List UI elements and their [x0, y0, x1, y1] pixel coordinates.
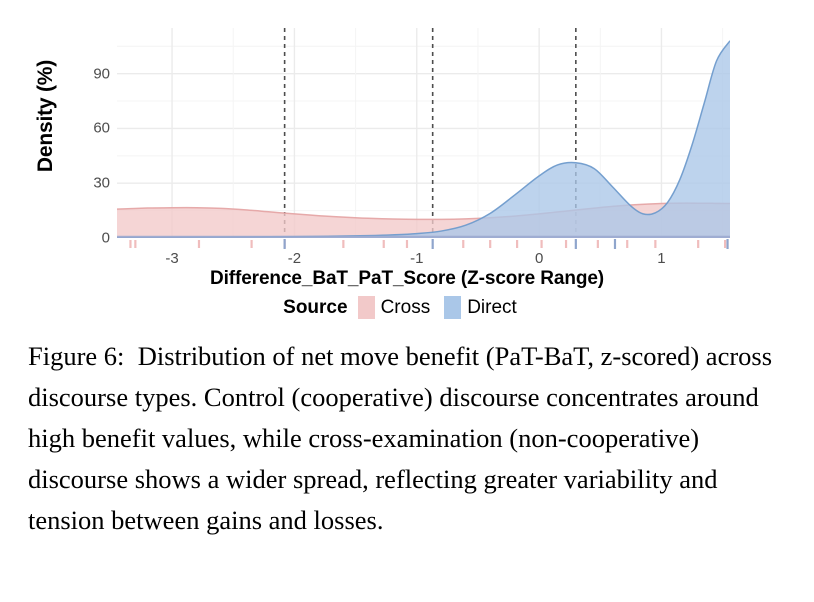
- x-tick-label: -2: [288, 250, 301, 267]
- y-tick-label: 0: [102, 230, 110, 247]
- x-tick-label: 1: [657, 250, 665, 267]
- chart-legend: Source Cross Direct: [0, 296, 814, 319]
- x-tick-label: 0: [535, 250, 543, 267]
- y-tick-label: 60: [93, 120, 110, 137]
- y-tick-label: 90: [93, 65, 110, 82]
- chart-figure: Density (%) 0306090 -3-2-101 Difference_…: [0, 0, 814, 330]
- figure-caption-spacer: [124, 341, 137, 371]
- legend-label-direct: Direct: [467, 297, 517, 319]
- x-tick-label: -3: [165, 250, 178, 267]
- y-axis-title: Density (%): [34, 26, 58, 206]
- figure-caption: Figure 6: Distribution of net move benef…: [28, 336, 800, 541]
- rug-marks-svg: [117, 239, 730, 250]
- legend-label-cross: Cross: [381, 297, 431, 319]
- density-areas: [117, 41, 730, 238]
- legend-title: Source: [283, 297, 347, 319]
- x-tick-label: -1: [410, 250, 423, 267]
- legend-swatch-cross: [358, 296, 375, 319]
- density-plot-svg: [117, 28, 730, 238]
- plot-panel: [117, 28, 730, 238]
- rug-marks-strip: [117, 239, 730, 250]
- y-axis-tick-labels: 0306090: [72, 0, 110, 290]
- plot-area-wrapper: Density (%) 0306090 -3-2-101 Difference_…: [0, 0, 814, 290]
- figure-caption-text: Distribution of net move benefit (PaT-Ba…: [28, 341, 772, 535]
- x-axis-title: Difference_BaT_PaT_Score (Z-score Range): [0, 268, 814, 290]
- figure-caption-label: Figure 6:: [28, 341, 124, 371]
- y-tick-label: 30: [93, 175, 110, 192]
- x-axis-tick-labels: -3-2-101: [117, 250, 730, 270]
- legend-item-direct[interactable]: Direct: [444, 296, 517, 319]
- legend-swatch-direct: [444, 296, 461, 319]
- figure-container: Density (%) 0306090 -3-2-101 Difference_…: [0, 0, 814, 602]
- legend-item-cross[interactable]: Cross: [358, 296, 431, 319]
